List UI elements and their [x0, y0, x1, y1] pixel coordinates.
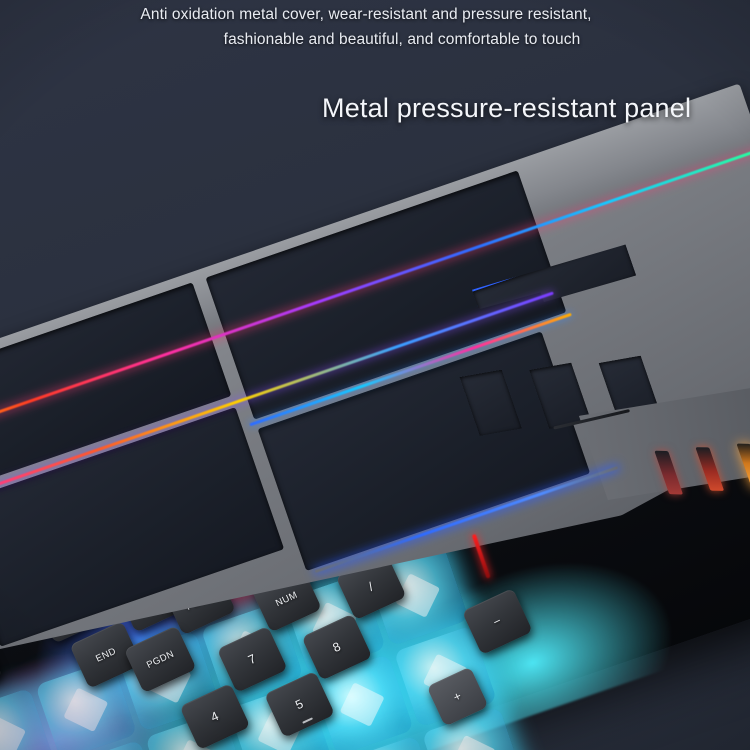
- copy-line-2: fashionable and beautiful, and comfortab…: [0, 27, 750, 52]
- marketing-copy: Anti oxidation metal cover, wear-resista…: [0, 2, 750, 52]
- homing-bar: [302, 718, 313, 724]
- copy-line-1: Anti oxidation metal cover, wear-resista…: [0, 2, 750, 27]
- product-hero-image: F10F11F12PRTSCSCRLKPAUSEBACKSPACEERINSHO…: [0, 0, 750, 750]
- headline-text: Metal pressure-resistant panel: [322, 93, 691, 124]
